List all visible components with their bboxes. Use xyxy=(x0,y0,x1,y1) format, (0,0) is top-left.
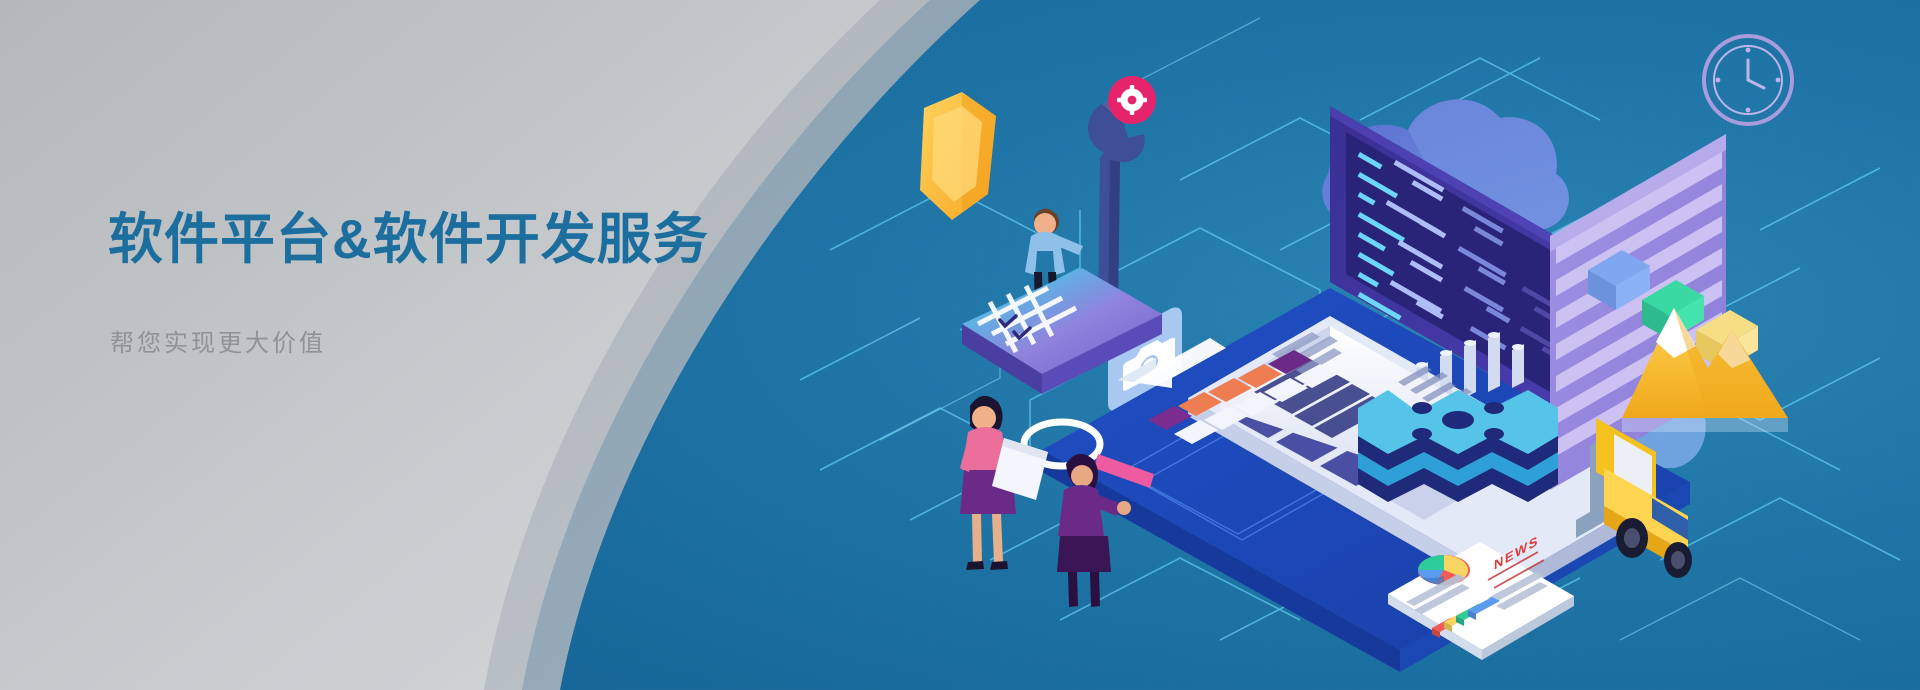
page-title: 软件平台&软件开发服务 xyxy=(108,206,828,273)
analyst-figure-pink xyxy=(960,396,1048,570)
clock-icon xyxy=(1704,36,1792,124)
page-subtitle: 帮您实现更大价值 xyxy=(110,327,828,361)
gear-badge-icon xyxy=(1108,76,1156,124)
illustration-isometric-scene: NEWS xyxy=(860,20,1920,690)
hero-banner: 软件平台&软件开发服务 帮您实现更大价值 xyxy=(0,0,1920,690)
pie-chart xyxy=(1418,555,1470,585)
hero-copy: 软件平台&软件开发服务 帮您实现更大价值 xyxy=(108,206,828,361)
shield-icon xyxy=(920,92,996,220)
gears-stack-icon xyxy=(1358,390,1558,502)
